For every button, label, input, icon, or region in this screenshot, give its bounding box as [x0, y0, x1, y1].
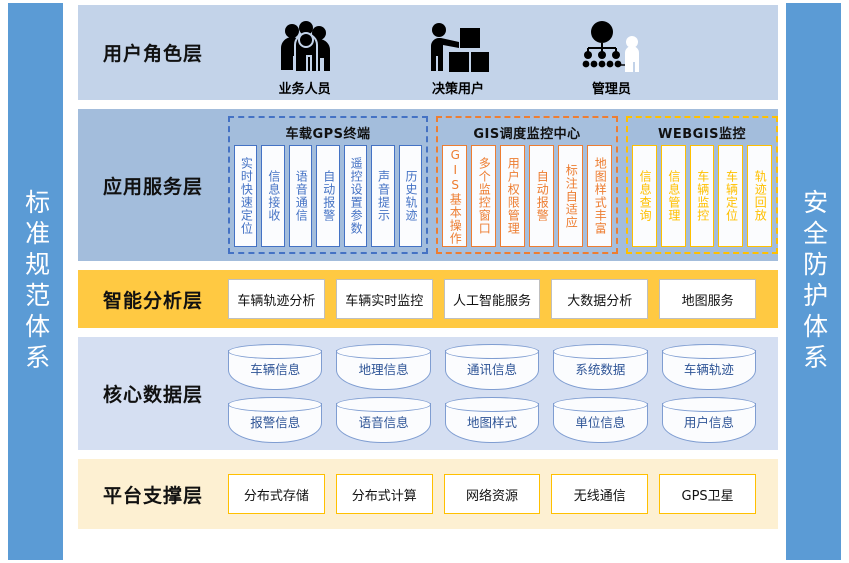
feature-label: 车辆监控: [695, 170, 708, 222]
layer-intelligent-analysis-title: 智能分析层: [78, 286, 228, 313]
group-vehicle-gps-terminal: 车载GPS终端 实时快速定位 信息接收 语音通信 自动报警 遥控设置参数 声音提…: [228, 116, 428, 254]
feature-cell[interactable]: 信息管理: [661, 145, 686, 247]
feature-label: 信息接收: [266, 170, 279, 222]
database-cylinder[interactable]: 车辆信息: [228, 344, 322, 390]
layer-user-role: 用户角色层: [78, 5, 778, 100]
feature-label: 地图样式丰富: [593, 157, 606, 235]
database-label: 通讯信息: [445, 357, 539, 379]
person-blocks-icon: [427, 18, 489, 74]
group-item-list: 信息查询 信息管理 车辆监控 车辆定位 轨迹回放: [632, 145, 772, 247]
database-cylinder[interactable]: 车辆轨迹: [662, 344, 756, 390]
right-sidebar-label: 安全防护体系: [800, 189, 826, 375]
layer-platform-support: 平台支撑层 分布式存储 分布式计算 网络资源 无线通信 GPS卫星: [78, 459, 778, 529]
analysis-service-cell[interactable]: 人工智能服务: [444, 279, 541, 319]
database-cylinder[interactable]: 系统数据: [553, 344, 647, 390]
database-label: 车辆轨迹: [662, 357, 756, 379]
database-cylinder[interactable]: 用户信息: [662, 397, 756, 443]
layer-user-role-body: 业务人员 决策用户: [228, 9, 778, 97]
feature-label: 标注自适应: [564, 164, 577, 229]
feature-label: 实时快速定位: [239, 157, 252, 235]
layer-intelligent-analysis: 智能分析层 车辆轨迹分析 车辆实时监控 人工智能服务 大数据分析 地图服务: [78, 270, 778, 328]
feature-label: 历史轨迹: [404, 170, 417, 222]
group-item-list: 实时快速定位 信息接收 语音通信 自动报警 遥控设置参数 声音提示 历史轨迹: [234, 145, 422, 247]
role-label: 决策用户: [432, 78, 484, 97]
analysis-service-cell[interactable]: 地图服务: [659, 279, 756, 319]
feature-cell[interactable]: 信息查询: [632, 145, 657, 247]
role-label: 管理员: [592, 78, 631, 97]
feature-cell[interactable]: GIS基本操作: [442, 145, 467, 247]
feature-cell[interactable]: 语音通信: [289, 145, 312, 247]
feature-label: 声音提示: [376, 170, 389, 222]
feature-label: 用户权限管理: [506, 157, 519, 235]
org-chart-person-icon: [580, 18, 642, 74]
feature-cell[interactable]: 信息接收: [261, 145, 284, 247]
feature-label: 信息查询: [638, 170, 651, 222]
left-sidebar-standard-system: 标准规范体系: [8, 3, 63, 560]
database-cylinder[interactable]: 报警信息: [228, 397, 322, 443]
feature-label: 语音通信: [294, 170, 307, 222]
platform-resource-cell[interactable]: 分布式计算: [336, 474, 433, 514]
feature-cell[interactable]: 自动报警: [316, 145, 339, 247]
feature-label: 多个监控窗口: [477, 157, 490, 235]
layer-intelligent-analysis-body: 车辆轨迹分析 车辆实时监控 人工智能服务 大数据分析 地图服务: [228, 279, 778, 319]
database-row: 车辆信息 地理信息 通讯信息: [228, 344, 756, 390]
group-webgis-monitoring: WEBGIS监控 信息查询 信息管理 车辆监控 车辆定位 轨迹回放: [626, 116, 778, 254]
platform-resource-cell[interactable]: 网络资源: [444, 474, 541, 514]
feature-cell[interactable]: 声音提示: [371, 145, 394, 247]
feature-label: 车辆定位: [724, 170, 737, 222]
analysis-service-cell[interactable]: 车辆实时监控: [336, 279, 433, 319]
database-label: 单位信息: [553, 410, 647, 432]
layer-application-service-title: 应用服务层: [78, 172, 228, 199]
layer-stack: 用户角色层: [78, 5, 778, 538]
feature-label: 自动报警: [535, 170, 548, 222]
feature-cell[interactable]: 多个监控窗口: [471, 145, 496, 247]
feature-cell[interactable]: 自动报警: [529, 145, 554, 247]
analysis-service-cell[interactable]: 车辆轨迹分析: [228, 279, 325, 319]
feature-cell[interactable]: 轨迹回放: [747, 145, 772, 247]
group-title: GIS调度监控中心: [442, 121, 612, 145]
database-cylinder[interactable]: 单位信息: [553, 397, 647, 443]
database-label: 语音信息: [336, 410, 430, 432]
feature-cell[interactable]: 地图样式丰富: [587, 145, 612, 247]
analysis-service-cell[interactable]: 大数据分析: [551, 279, 648, 319]
database-cylinder[interactable]: 语音信息: [336, 397, 430, 443]
database-label: 地理信息: [336, 357, 430, 379]
database-row: 报警信息 语音信息 地图样式: [228, 397, 756, 443]
platform-resource-cell[interactable]: 分布式存储: [228, 474, 325, 514]
application-group-list: 车载GPS终端 实时快速定位 信息接收 语音通信 自动报警 遥控设置参数 声音提…: [228, 109, 788, 261]
layer-application-service: 应用服务层 车载GPS终端 实时快速定位 信息接收 语音通信 自动报警 遥控设置…: [78, 109, 778, 261]
layer-application-service-body: 车载GPS终端 实时快速定位 信息接收 语音通信 自动报警 遥控设置参数 声音提…: [228, 109, 788, 261]
feature-cell[interactable]: 标注自适应: [558, 145, 583, 247]
group-title: WEBGIS监控: [632, 121, 772, 145]
feature-label: 自动报警: [321, 170, 334, 222]
layer-user-role-title: 用户角色层: [78, 39, 228, 66]
feature-cell[interactable]: 遥控设置参数: [344, 145, 367, 247]
database-label: 系统数据: [553, 357, 647, 379]
feature-cell[interactable]: 车辆定位: [718, 145, 743, 247]
database-grid: 车辆信息 地理信息 通讯信息: [228, 344, 778, 443]
layer-core-data-title: 核心数据层: [78, 380, 228, 407]
platform-resource-cell[interactable]: GPS卫星: [659, 474, 756, 514]
database-cylinder[interactable]: 通讯信息: [445, 344, 539, 390]
layer-core-data-body: 车辆信息 地理信息 通讯信息: [228, 344, 778, 443]
database-label: 车辆信息: [228, 357, 322, 379]
database-cylinder[interactable]: 地理信息: [336, 344, 430, 390]
feature-cell[interactable]: 车辆监控: [690, 145, 715, 247]
role-item-administrator[interactable]: 管理员: [535, 9, 688, 97]
database-cylinder[interactable]: 地图样式: [445, 397, 539, 443]
feature-label: 轨迹回放: [753, 170, 766, 222]
feature-label: 遥控设置参数: [349, 157, 362, 235]
right-sidebar-security-system: 安全防护体系: [786, 3, 841, 560]
layer-core-data: 核心数据层 车辆信息 地理信息: [78, 337, 778, 450]
platform-resource-list: 分布式存储 分布式计算 网络资源 无线通信 GPS卫星: [228, 474, 778, 514]
platform-resource-cell[interactable]: 无线通信: [551, 474, 648, 514]
group-item-list: GIS基本操作 多个监控窗口 用户权限管理 自动报警 标注自适应 地图样式丰富: [442, 145, 612, 247]
group-title: 车载GPS终端: [234, 121, 422, 145]
feature-label: 信息管理: [666, 170, 679, 222]
role-list: 业务人员 决策用户: [228, 9, 778, 97]
feature-cell[interactable]: 实时快速定位: [234, 145, 257, 247]
database-label: 用户信息: [662, 410, 756, 432]
layer-platform-support-title: 平台支撑层: [78, 481, 228, 508]
database-label: 报警信息: [228, 410, 322, 432]
group-gis-dispatch-center: GIS调度监控中心 GIS基本操作 多个监控窗口 用户权限管理 自动报警 标注自…: [436, 116, 618, 254]
feature-cell[interactable]: 用户权限管理: [500, 145, 525, 247]
role-label: 业务人员: [279, 78, 331, 97]
role-item-business-staff[interactable]: 业务人员: [228, 9, 381, 97]
layer-platform-support-body: 分布式存储 分布式计算 网络资源 无线通信 GPS卫星: [228, 474, 778, 514]
feature-cell[interactable]: 历史轨迹: [399, 145, 422, 247]
analysis-service-list: 车辆轨迹分析 车辆实时监控 人工智能服务 大数据分析 地图服务: [228, 279, 778, 319]
role-item-decision-user[interactable]: 决策用户: [381, 9, 534, 97]
left-sidebar-label: 标准规范体系: [22, 189, 48, 375]
people-group-icon: [275, 18, 335, 74]
feature-label: GIS基本操作: [448, 148, 461, 245]
database-label: 地图样式: [445, 410, 539, 432]
architecture-diagram: 标准规范体系 安全防护体系 用户角色层: [0, 0, 849, 563]
